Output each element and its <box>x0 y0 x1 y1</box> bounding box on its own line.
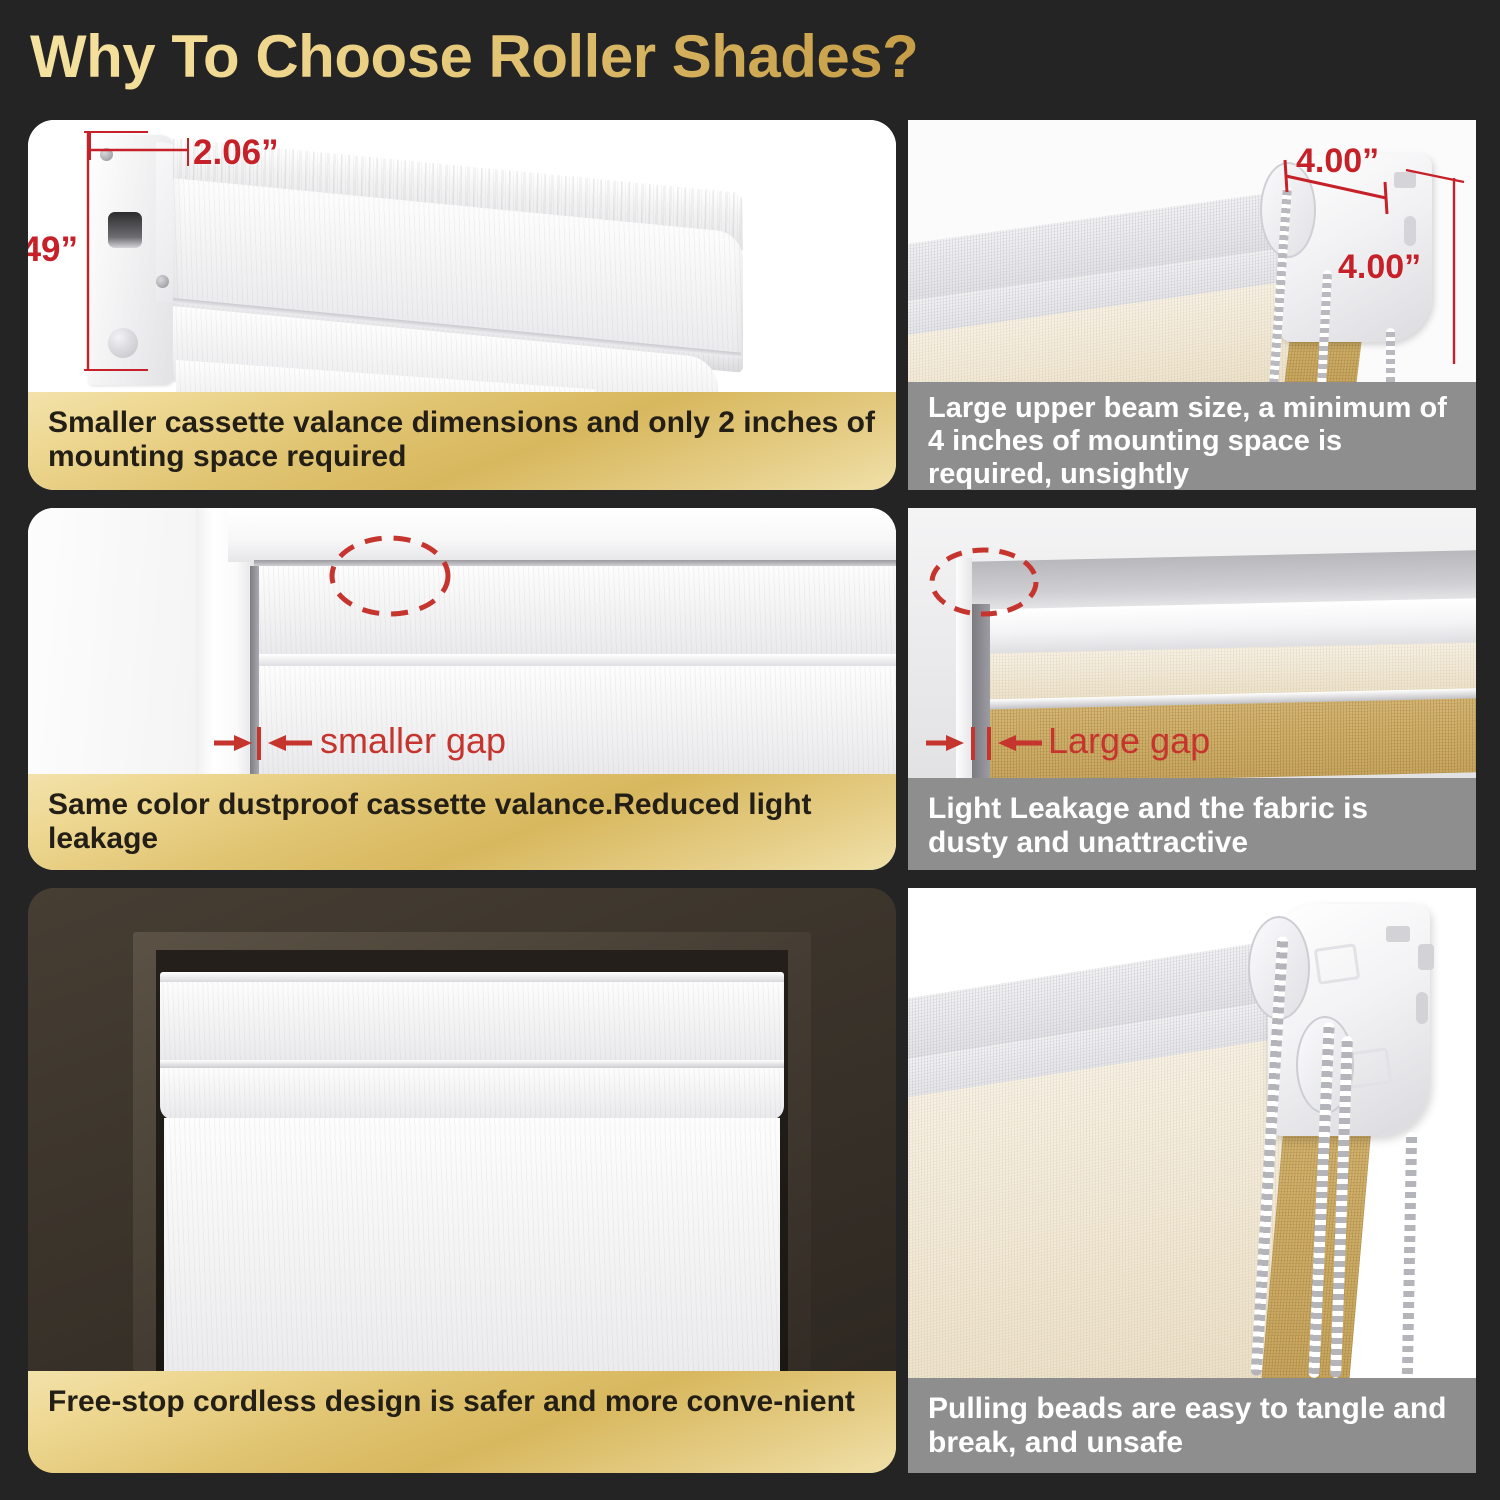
caption-upper-beam-size: Large upper beam size, a minimum of 4 in… <box>908 382 1476 490</box>
window-casing-header <box>228 508 896 562</box>
caption-pulling-beads-text: Pulling beads are easy to tangle and bre… <box>908 1378 1476 1460</box>
side-edge-light <box>956 558 972 778</box>
cream-fabric-main <box>908 1038 1282 1378</box>
bracket-notch-top <box>1394 172 1416 188</box>
beam-height-label: 4.00” <box>1338 248 1421 287</box>
cassette-dimensions-photo: 2.06” 5.49” <box>28 120 896 400</box>
panel-dustproof-valance: smaller gap Same color dustproof cassett… <box>28 508 896 870</box>
caption-dustproof-valance: Same color dustproof cassette valance.Re… <box>28 774 896 870</box>
caption-cassette-dimensions-text: Smaller cassette valance dimensions and … <box>28 392 896 474</box>
fabric-roll <box>160 1068 784 1120</box>
dustproof-valance-photo: smaller gap <box>28 508 896 776</box>
caption-cordless-design-overlay: Free-stop cordless design is safer and m… <box>28 1371 896 1473</box>
wall-surface <box>28 508 218 776</box>
shade-fabric-main <box>164 1118 780 1371</box>
bracket-notch-top <box>1386 926 1410 942</box>
caption-upper-beam-size-text: Large upper beam size, a minimum of 4 in… <box>908 382 1476 490</box>
caption-light-leakage-text: Light Leakage and the fabric is dusty an… <box>908 778 1476 860</box>
screw-middle <box>156 275 169 288</box>
large-gap-label: Large gap <box>1048 720 1210 762</box>
screw-lower <box>108 328 138 358</box>
caption-dustproof-valance-text: Same color dustproof cassette valance.Re… <box>28 774 896 856</box>
caption-cassette-dimensions: Smaller cassette valance dimensions and … <box>28 392 896 490</box>
width-dimension-label: 2.06” <box>193 133 279 173</box>
bead-chain-side <box>1386 328 1395 382</box>
light-leakage-photo: Large gap <box>908 508 1476 778</box>
upper-beam-photo: 4.00” 4.00” <box>908 120 1476 382</box>
panel-pulling-beads: Pulling beads are easy to tangle and bre… <box>908 888 1476 1473</box>
panel-light-leakage: Large gap Light Leakage and the fabric i… <box>908 508 1476 870</box>
bracket-slot <box>108 212 142 248</box>
height-dimension-label: 5.49” <box>28 230 78 270</box>
gap-strip <box>250 566 259 776</box>
bead-chain-4 <box>1402 1132 1417 1378</box>
bracket-notch-mid <box>1404 216 1416 246</box>
smaller-gap-label: smaller gap <box>320 720 506 762</box>
valance-front <box>160 982 784 1064</box>
caption-pulling-beads: Pulling beads are easy to tangle and bre… <box>908 1378 1476 1473</box>
screw-upper <box>100 148 113 161</box>
page-title: Why To Choose Roller Shades? <box>30 22 918 91</box>
bracket-notch-mid <box>1416 992 1428 1024</box>
caption-light-leakage: Light Leakage and the fabric is dusty an… <box>908 778 1476 870</box>
pulling-beads-photo <box>908 888 1476 1378</box>
panel-upper-beam-size: 4.00” 4.00” Large upper beam size, a min… <box>908 120 1476 490</box>
panel-cassette-dimensions: 2.06” 5.49” Smaller cassette valance dim… <box>28 120 896 490</box>
beam-width-label: 4.00” <box>1296 142 1379 181</box>
cassette-valance <box>256 566 896 658</box>
caption-cordless-design-overlay-text: Free-stop cordless design is safer and m… <box>28 1371 896 1419</box>
infographic-root: Why To Choose Roller Shades? <box>0 0 1500 1500</box>
cordless-design-photo <box>28 888 896 1371</box>
bracket-notch-upper-right <box>1418 944 1434 970</box>
bracket-emblem-upper <box>1314 943 1361 984</box>
large-gap-strip <box>972 604 990 778</box>
